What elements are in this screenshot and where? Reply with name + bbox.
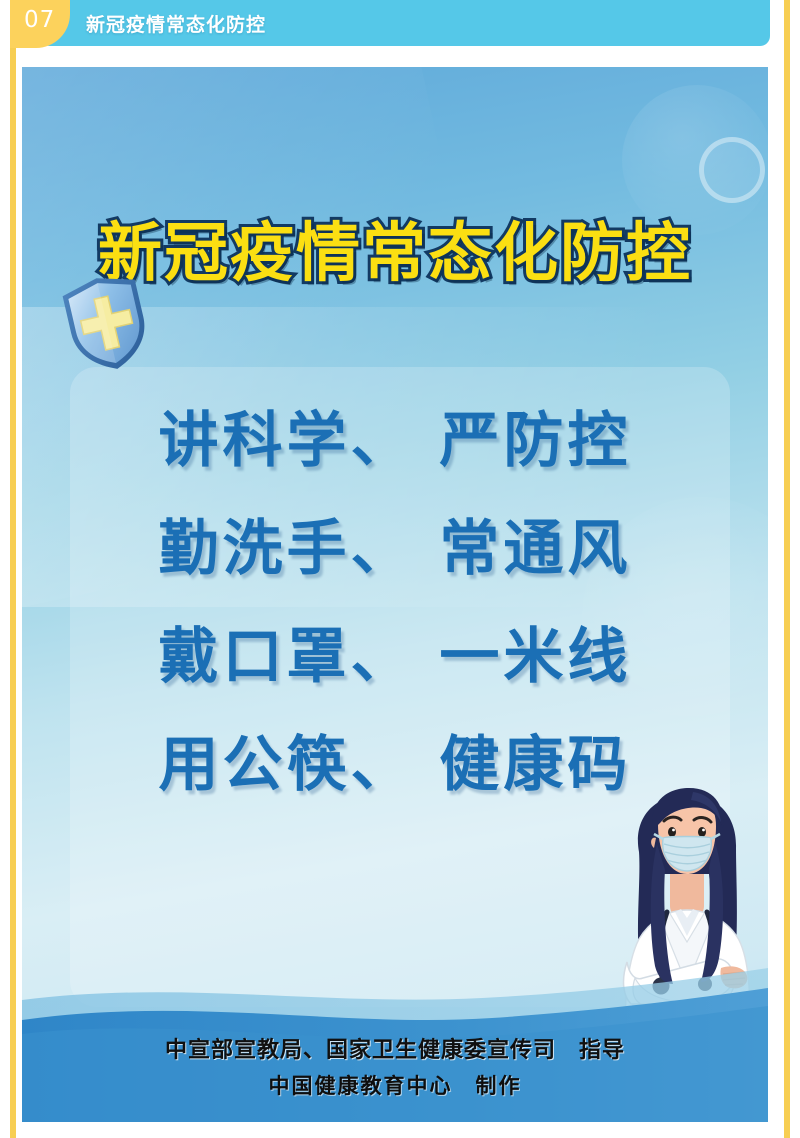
right-yellow-rail xyxy=(784,0,790,1138)
footer-credits: 中宣部宣教局、国家卫生健康委宣传司 指导 中国健康教育中心 制作 xyxy=(22,1032,768,1100)
slogan-line-3: 戴口罩、 一米线 xyxy=(22,603,768,711)
page-header: 07 新冠疫情常态化防控 xyxy=(0,0,800,46)
header-title: 新冠疫情常态化防控 xyxy=(86,10,266,37)
footer-producer-line: 中国健康教育中心 制作 xyxy=(22,1070,768,1100)
slogan-line-1: 讲科学、 严防控 xyxy=(22,387,768,495)
bubble-ring-icon xyxy=(699,137,765,203)
poster-title: 新冠疫情常态化防控 xyxy=(98,202,692,294)
poster-canvas: 新冠疫情常态化防控 讲科学、 严防控 勤洗手、 常通风 戴口罩、 一米线 用公筷… xyxy=(22,67,768,1122)
header-badge-number: 07 xyxy=(24,7,55,33)
slogan-line-2: 勤洗手、 常通风 xyxy=(22,495,768,603)
slogan-block: 讲科学、 严防控 勤洗手、 常通风 戴口罩、 一米线 用公筷、 健康码 xyxy=(22,387,768,819)
footer-guidance-line: 中宣部宣教局、国家卫生健康委宣传司 指导 xyxy=(22,1032,768,1064)
left-yellow-rail xyxy=(10,0,16,1138)
